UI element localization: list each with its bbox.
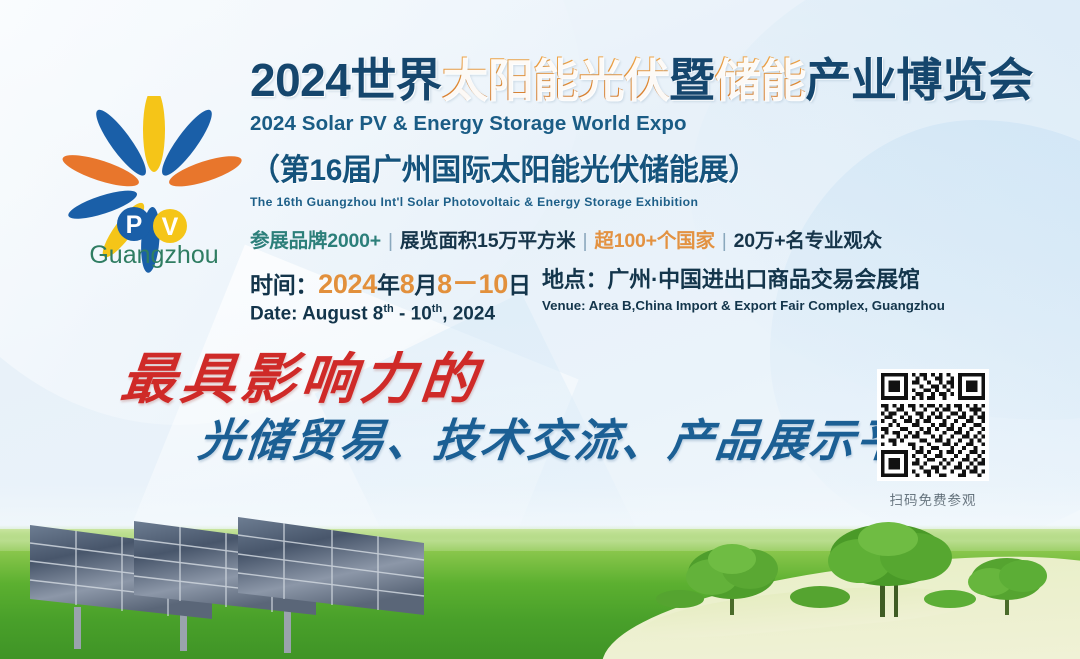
title-part-4: 产业博览会 <box>805 54 1033 106</box>
stat-countries: 超100+个国家 <box>594 230 714 252</box>
stat-visitors: 20万+名专业观众 <box>734 230 882 252</box>
venue-label-cn: 地点： <box>542 267 607 292</box>
qr-code-image[interactable] <box>877 369 989 481</box>
venue-english: Venue: Area B,China Import & Export Fair… <box>542 298 1040 313</box>
title-part-2: 暨 <box>669 54 715 106</box>
date-year-unit: 年 <box>377 272 400 298</box>
date-days: 8－10 <box>437 269 508 299</box>
sunburst-logo-icon: P V Guangzhou <box>62 96 247 276</box>
expo-stats-row: 参展品牌2000+|展览面积15万平方米|超100+个国家|20万+名专业观众 <box>250 224 1040 253</box>
slogan-line-2: 光储贸易、技术交流、产品展示平台! <box>196 419 905 464</box>
logo-letter-v: V <box>162 213 179 241</box>
date-en-sup-2: th <box>432 303 442 315</box>
date-column: 时间：2024年8月8－10日 Date: August 8th - 10th,… <box>250 262 542 325</box>
title-part-0: 2024世界 <box>250 54 441 106</box>
expo-title: 2024世界太阳能光伏暨储能产业博览会 <box>250 56 1040 105</box>
tree-3 <box>968 558 1047 615</box>
stat-brands: 参展品牌2000+ <box>250 230 381 252</box>
date-en-prefix: Date: August 8 <box>250 303 383 324</box>
expo-title-english: 2024 Solar PV & Energy Storage World Exp… <box>250 112 1040 136</box>
logo-letter-p: P <box>126 211 143 239</box>
slogan-line-1: 最具影响力的 <box>118 352 906 407</box>
landscape-scene <box>0 484 1080 659</box>
date-chinese: 时间：2024年8月8－10日 <box>250 262 542 301</box>
date-day-unit: 日 <box>508 272 531 298</box>
logo-wordmark: Guangzhou <box>89 241 218 269</box>
date-en-sup-1: th <box>383 303 393 315</box>
date-en-mid: - 10 <box>394 303 432 324</box>
expo-banner: P V Guangzhou 2024世界太阳能光伏暨储能产业博览会 2024 S… <box>0 0 1080 659</box>
expo-subtitle-english: The 16th Guangzhou Int'l Solar Photovolt… <box>250 195 1040 209</box>
date-en-suffix: , 2024 <box>442 303 495 324</box>
date-english: Date: August 8th - 10th, 2024 <box>250 303 542 325</box>
date-label-cn: 时间： <box>250 272 318 298</box>
title-part-1: 太阳能光伏 <box>441 54 669 106</box>
slogan-block: 最具影响力的 光储贸易、技术交流、产品展示平台! <box>0 352 900 464</box>
tree-1 <box>686 544 778 615</box>
date-year: 2024 <box>318 269 377 299</box>
stat-separator-3: | <box>715 230 734 252</box>
stat-separator-2: | <box>576 230 595 252</box>
pv-guangzhou-logo: P V Guangzhou <box>62 96 247 276</box>
title-part-3: 储能 <box>714 54 805 106</box>
stat-area: 展览面积15万平方米 <box>400 230 576 252</box>
stat-separator-1: | <box>381 230 400 252</box>
tree-group-icon <box>650 511 1080 631</box>
header-block: 2024世界太阳能光伏暨储能产业博览会 2024 Solar PV & Ener… <box>250 56 1040 253</box>
scene-trees <box>650 511 1080 631</box>
venue-column: 地点：广州·中国进出口商品交易会展馆 Venue: Area B,China I… <box>542 262 1040 325</box>
date-month: 8 <box>400 269 415 299</box>
solar-panels-icon <box>12 487 552 659</box>
expo-subtitle-chinese: （第16届广州国际太阳能光伏储能展） <box>250 145 1040 189</box>
date-month-unit: 月 <box>414 272 437 298</box>
solar-panel-array <box>12 487 552 659</box>
venue-name-cn: 广州·中国进出口商品交易会展馆 <box>607 267 919 292</box>
date-venue-row: 时间：2024年8月8－10日 Date: August 8th - 10th,… <box>250 262 1040 325</box>
venue-chinese: 地点：广州·中国进出口商品交易会展馆 <box>542 262 1040 294</box>
